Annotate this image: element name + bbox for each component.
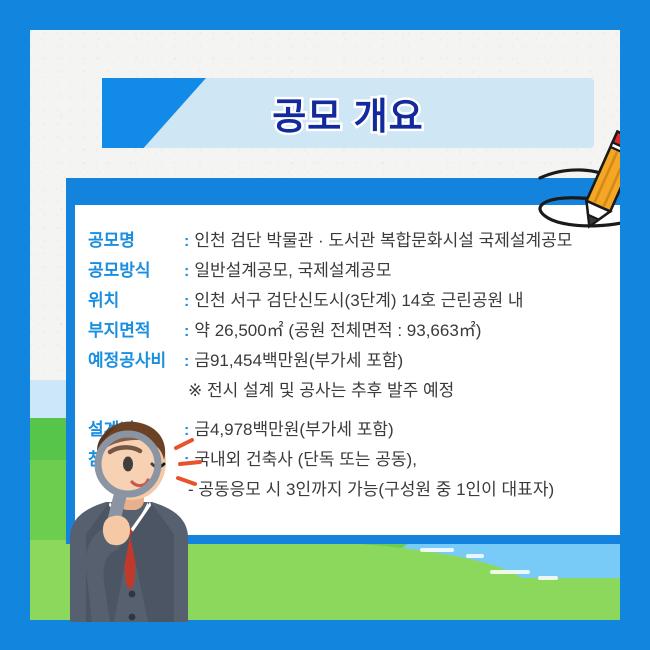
water-dash (538, 576, 558, 580)
water-dash (420, 548, 454, 552)
spark-lines (176, 440, 200, 484)
row-label: 공모방식 (88, 256, 181, 281)
row-value: 금91,454백만원(부가세 포함) (194, 346, 403, 371)
row-value: 금4,978백만원(부가세 포함) (194, 415, 393, 440)
hand (103, 516, 130, 546)
note-text: ※ 전시 설계 및 공사는 추후 발주 예정 (188, 376, 454, 401)
row-colon: : (181, 323, 194, 341)
pencil-icon (578, 131, 620, 231)
list-item: 위치 : 인천 서구 검단신도시(3단계) 14호 근린공원 내 (88, 286, 620, 316)
jacket-button (129, 614, 136, 621)
list-item: 공모방식 : 일반설계공모, 국제설계공모 (88, 256, 620, 286)
row-colon: : (181, 353, 194, 371)
row-value: 인천 검단 박물관 · 도서관 복합문화시설 국제설계공모 (194, 226, 572, 251)
poster-root: 공모 개요 공모명 : 인천 검단 박물관 · 도서관 복합문화시설 국제설계공… (0, 0, 650, 650)
row-label: 위치 (88, 286, 181, 311)
businessman-illustration (52, 418, 212, 622)
row-label: 공모명 (88, 226, 181, 251)
list-item: 예정공사비 : 금91,454백만원(부가세 포함) (88, 346, 620, 376)
row-label: 부지면적 (88, 316, 181, 341)
row-value: 일반설계공모, 국제설계공모 (194, 256, 391, 281)
page-title: 공모 개요 (102, 78, 594, 148)
jacket-button (129, 591, 136, 598)
list-item: 부지면적 : 약 26,500㎡ (공원 전체면적 : 93,663㎡) (88, 316, 620, 346)
note-text: - 공동응모 시 3인까지 가능(구성원 중 1인이 대표자) (188, 475, 554, 500)
construction-note: ※ 전시 설계 및 공사는 추후 발주 예정 (88, 376, 620, 406)
pencil-illustration (522, 126, 620, 238)
row-colon: : (181, 293, 194, 311)
row-colon: : (181, 263, 194, 281)
row-label: 예정공사비 (88, 346, 181, 371)
row-value: 인천 서구 검단신도시(3단계) 14호 근린공원 내 (194, 286, 523, 311)
row-colon: : (181, 233, 194, 251)
row-value: 국내외 건축사 (단독 또는 공동), (194, 445, 417, 470)
row-spacer (88, 406, 620, 415)
water-dash (490, 570, 530, 574)
row-value: 약 26,500㎡ (공원 전체면적 : 93,663㎡) (194, 316, 481, 341)
water-dash (466, 554, 484, 558)
